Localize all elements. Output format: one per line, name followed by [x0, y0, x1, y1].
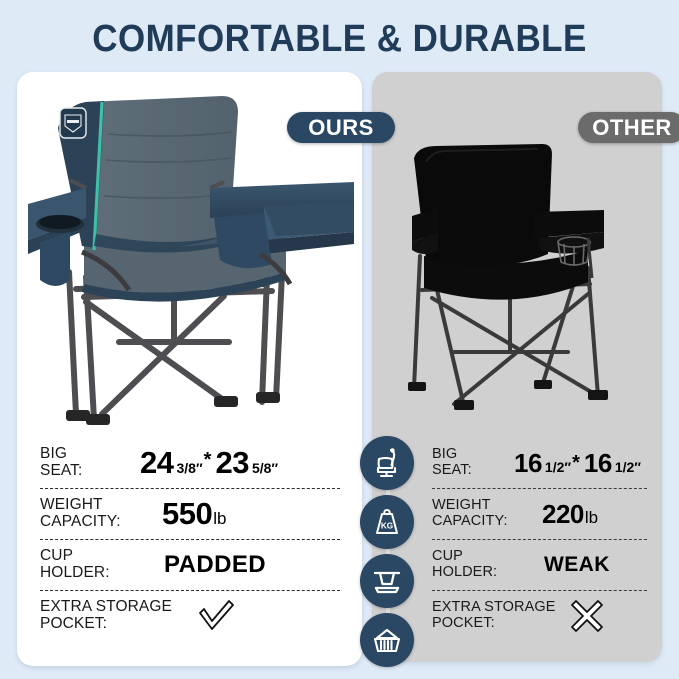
badge-other: OTHER [578, 112, 679, 143]
spec-label: EXTRA STORAGE POCKET: [432, 600, 572, 631]
weight-kg-icon: KG [360, 495, 414, 549]
check-mark-icon [196, 597, 236, 635]
dimension-separator: * [572, 452, 580, 475]
spec-label: BIG SEAT: [432, 447, 514, 478]
cup-holder-icon [360, 554, 414, 608]
spec-label: CUP HOLDER: [40, 548, 140, 581]
seat-width-fraction: 1/2″ [545, 459, 571, 475]
weight-capacity-value: 550 [162, 496, 212, 532]
spec-row-weight-capacity: WEIGHT CAPACITY: 550 lb [40, 489, 340, 539]
spec-value [568, 597, 606, 635]
other-chair-image [392, 138, 650, 428]
feature-icon-rail: KG [360, 436, 416, 666]
spec-row-extra-storage: EXTRA STORAGE POCKET: [40, 591, 340, 641]
spec-row-weight-capacity: WEIGHT CAPACITY: 220 lb [432, 489, 647, 539]
dimension-separator: * [204, 449, 212, 472]
cup-holder-value: WEAK [544, 553, 610, 577]
seat-depth-value: 16 [584, 448, 612, 479]
other-spec-table: BIG SEAT: 16 1/2″ * 16 1/2″ WEIGHT CAPAC… [432, 438, 647, 641]
spec-value: 550 lb [162, 496, 226, 532]
spec-value: PADDED [164, 551, 266, 579]
spec-label: BIG SEAT: [40, 446, 140, 479]
seat-width-value: 16 [514, 448, 542, 479]
spec-row-big-seat: BIG SEAT: 16 1/2″ * 16 1/2″ [432, 438, 647, 488]
cross-mark-icon [568, 597, 606, 635]
seat-width-value: 24 [140, 445, 173, 481]
seat-icon [360, 436, 414, 490]
svg-text:KG: KG [381, 522, 393, 531]
weight-capacity-value: 220 [542, 499, 584, 530]
spec-row-big-seat: BIG SEAT: 24 3/8″ * 23 5/8″ [40, 438, 340, 488]
spec-value [196, 597, 236, 635]
seat-depth-fraction: 5/8″ [252, 460, 278, 476]
spec-row-extra-storage: EXTRA STORAGE POCKET: [432, 591, 647, 641]
spec-value: 24 3/8″ * 23 5/8″ [140, 445, 278, 481]
badge-ours: OURS [287, 112, 395, 143]
storage-basket-icon [360, 613, 414, 667]
seat-width-fraction: 3/8″ [176, 460, 202, 476]
spec-row-cup-holder: CUP HOLDER: PADDED [40, 540, 340, 590]
ours-spec-table: BIG SEAT: 24 3/8″ * 23 5/8″ WEIGHT CAPAC… [40, 438, 340, 641]
spec-label: WEIGHT CAPACITY: [40, 497, 140, 530]
weight-capacity-unit: lb [585, 508, 598, 528]
page-title: COMFORTABLE & DURABLE [27, 18, 652, 61]
comparison-infographic: COMFORTABLE & DURABLE [0, 0, 679, 679]
spec-row-cup-holder: CUP HOLDER: WEAK [432, 540, 647, 590]
weight-capacity-unit: lb [213, 509, 226, 529]
spec-label: CUP HOLDER: [432, 549, 514, 580]
brand-logo-icon [60, 108, 86, 138]
spec-label: EXTRA STORAGE POCKET: [40, 599, 192, 632]
spec-value: 220 lb [542, 499, 598, 530]
seat-depth-value: 23 [215, 445, 248, 481]
spec-value: 16 1/2″ * 16 1/2″ [514, 448, 641, 479]
seat-depth-fraction: 1/2″ [615, 459, 641, 475]
spec-label: WEIGHT CAPACITY: [432, 498, 514, 529]
cup-holder-value: PADDED [164, 551, 266, 579]
spec-value: WEAK [544, 553, 610, 577]
